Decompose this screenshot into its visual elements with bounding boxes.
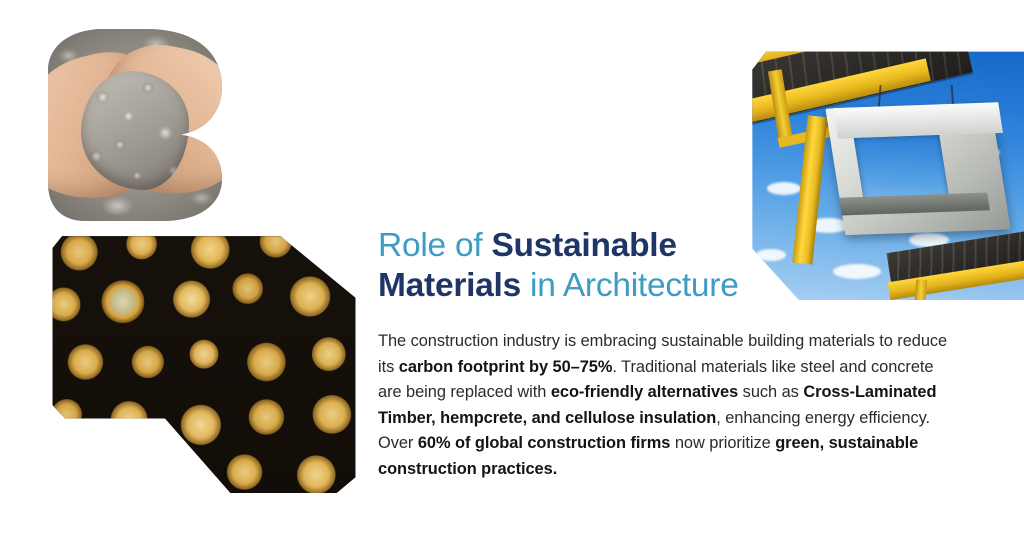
body-highlight: 60% of global construction firms — [418, 434, 671, 452]
body-paragraph: The construction industry is embracing s… — [378, 306, 958, 483]
log-ends-texture — [48, 231, 360, 493]
headline-segment-materials: Materials — [378, 267, 521, 304]
body-highlight: eco-friendly alternatives — [551, 383, 738, 401]
body-text-run: now prioritize — [670, 434, 775, 452]
stacked-timber-logs-photo — [48, 231, 360, 493]
headline-segment-sustainable: Sustainable — [491, 227, 676, 264]
page-title: Role of SustainableMaterials in Architec… — [378, 226, 958, 306]
text-column: Role of SustainableMaterials in Architec… — [378, 226, 958, 483]
body-highlight: carbon footprint by 50–75% — [399, 358, 613, 376]
slide-canvas: Role of SustainableMaterials in Architec… — [0, 0, 1024, 538]
hands-holding-cellulose-insulation-photo — [48, 29, 222, 221]
headline-segment-in-architecture: in Architecture — [521, 267, 739, 304]
precast-module-top-edge — [833, 103, 1003, 139]
headline-segment-role-of: Role of — [378, 227, 491, 264]
body-text-run: such as — [738, 383, 803, 401]
